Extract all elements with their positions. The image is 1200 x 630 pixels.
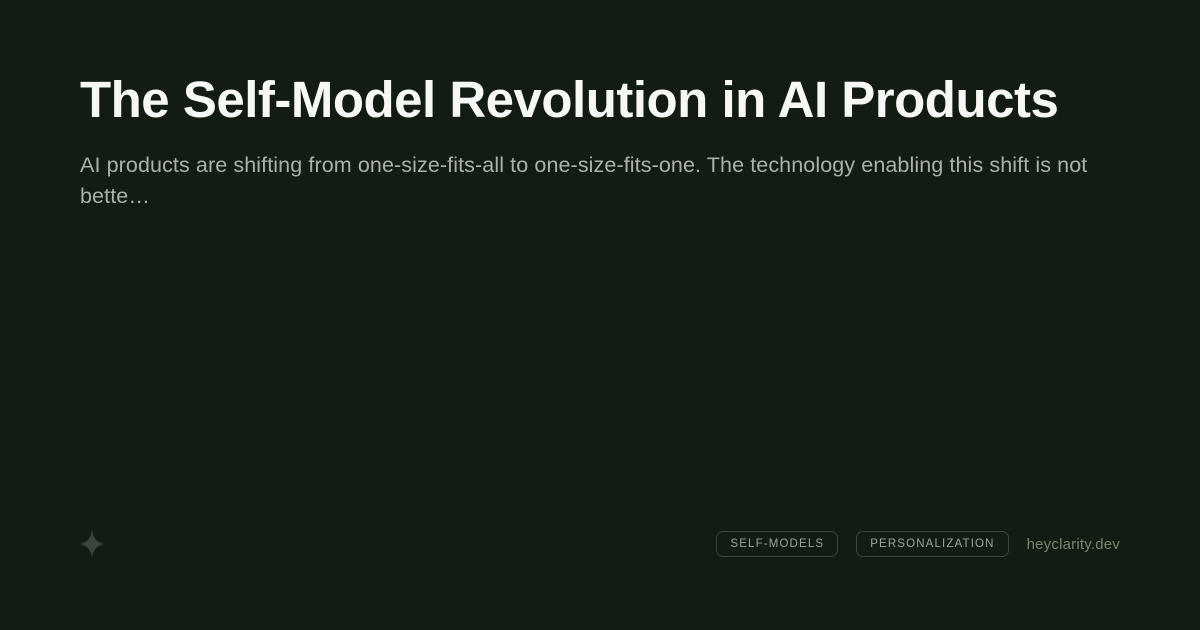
footer-meta: SELF-MODELS PERSONALIZATION heyclarity.d…: [716, 531, 1120, 557]
page-subtitle: AI products are shifting from one-size-f…: [80, 129, 1090, 212]
page-title: The Self-Model Revolution in AI Products: [80, 70, 1120, 129]
four-pointed-sparkle-icon: [80, 530, 104, 558]
tag-self-models[interactable]: SELF-MODELS: [716, 531, 838, 557]
tag-personalization[interactable]: PERSONALIZATION: [856, 531, 1008, 557]
tag-list: SELF-MODELS PERSONALIZATION: [716, 531, 1008, 557]
og-card: The Self-Model Revolution in AI Products…: [0, 0, 1200, 630]
site-domain: heyclarity.dev: [1027, 536, 1120, 553]
card-content: The Self-Model Revolution in AI Products…: [80, 70, 1120, 212]
card-footer: SELF-MODELS PERSONALIZATION heyclarity.d…: [80, 530, 1120, 558]
